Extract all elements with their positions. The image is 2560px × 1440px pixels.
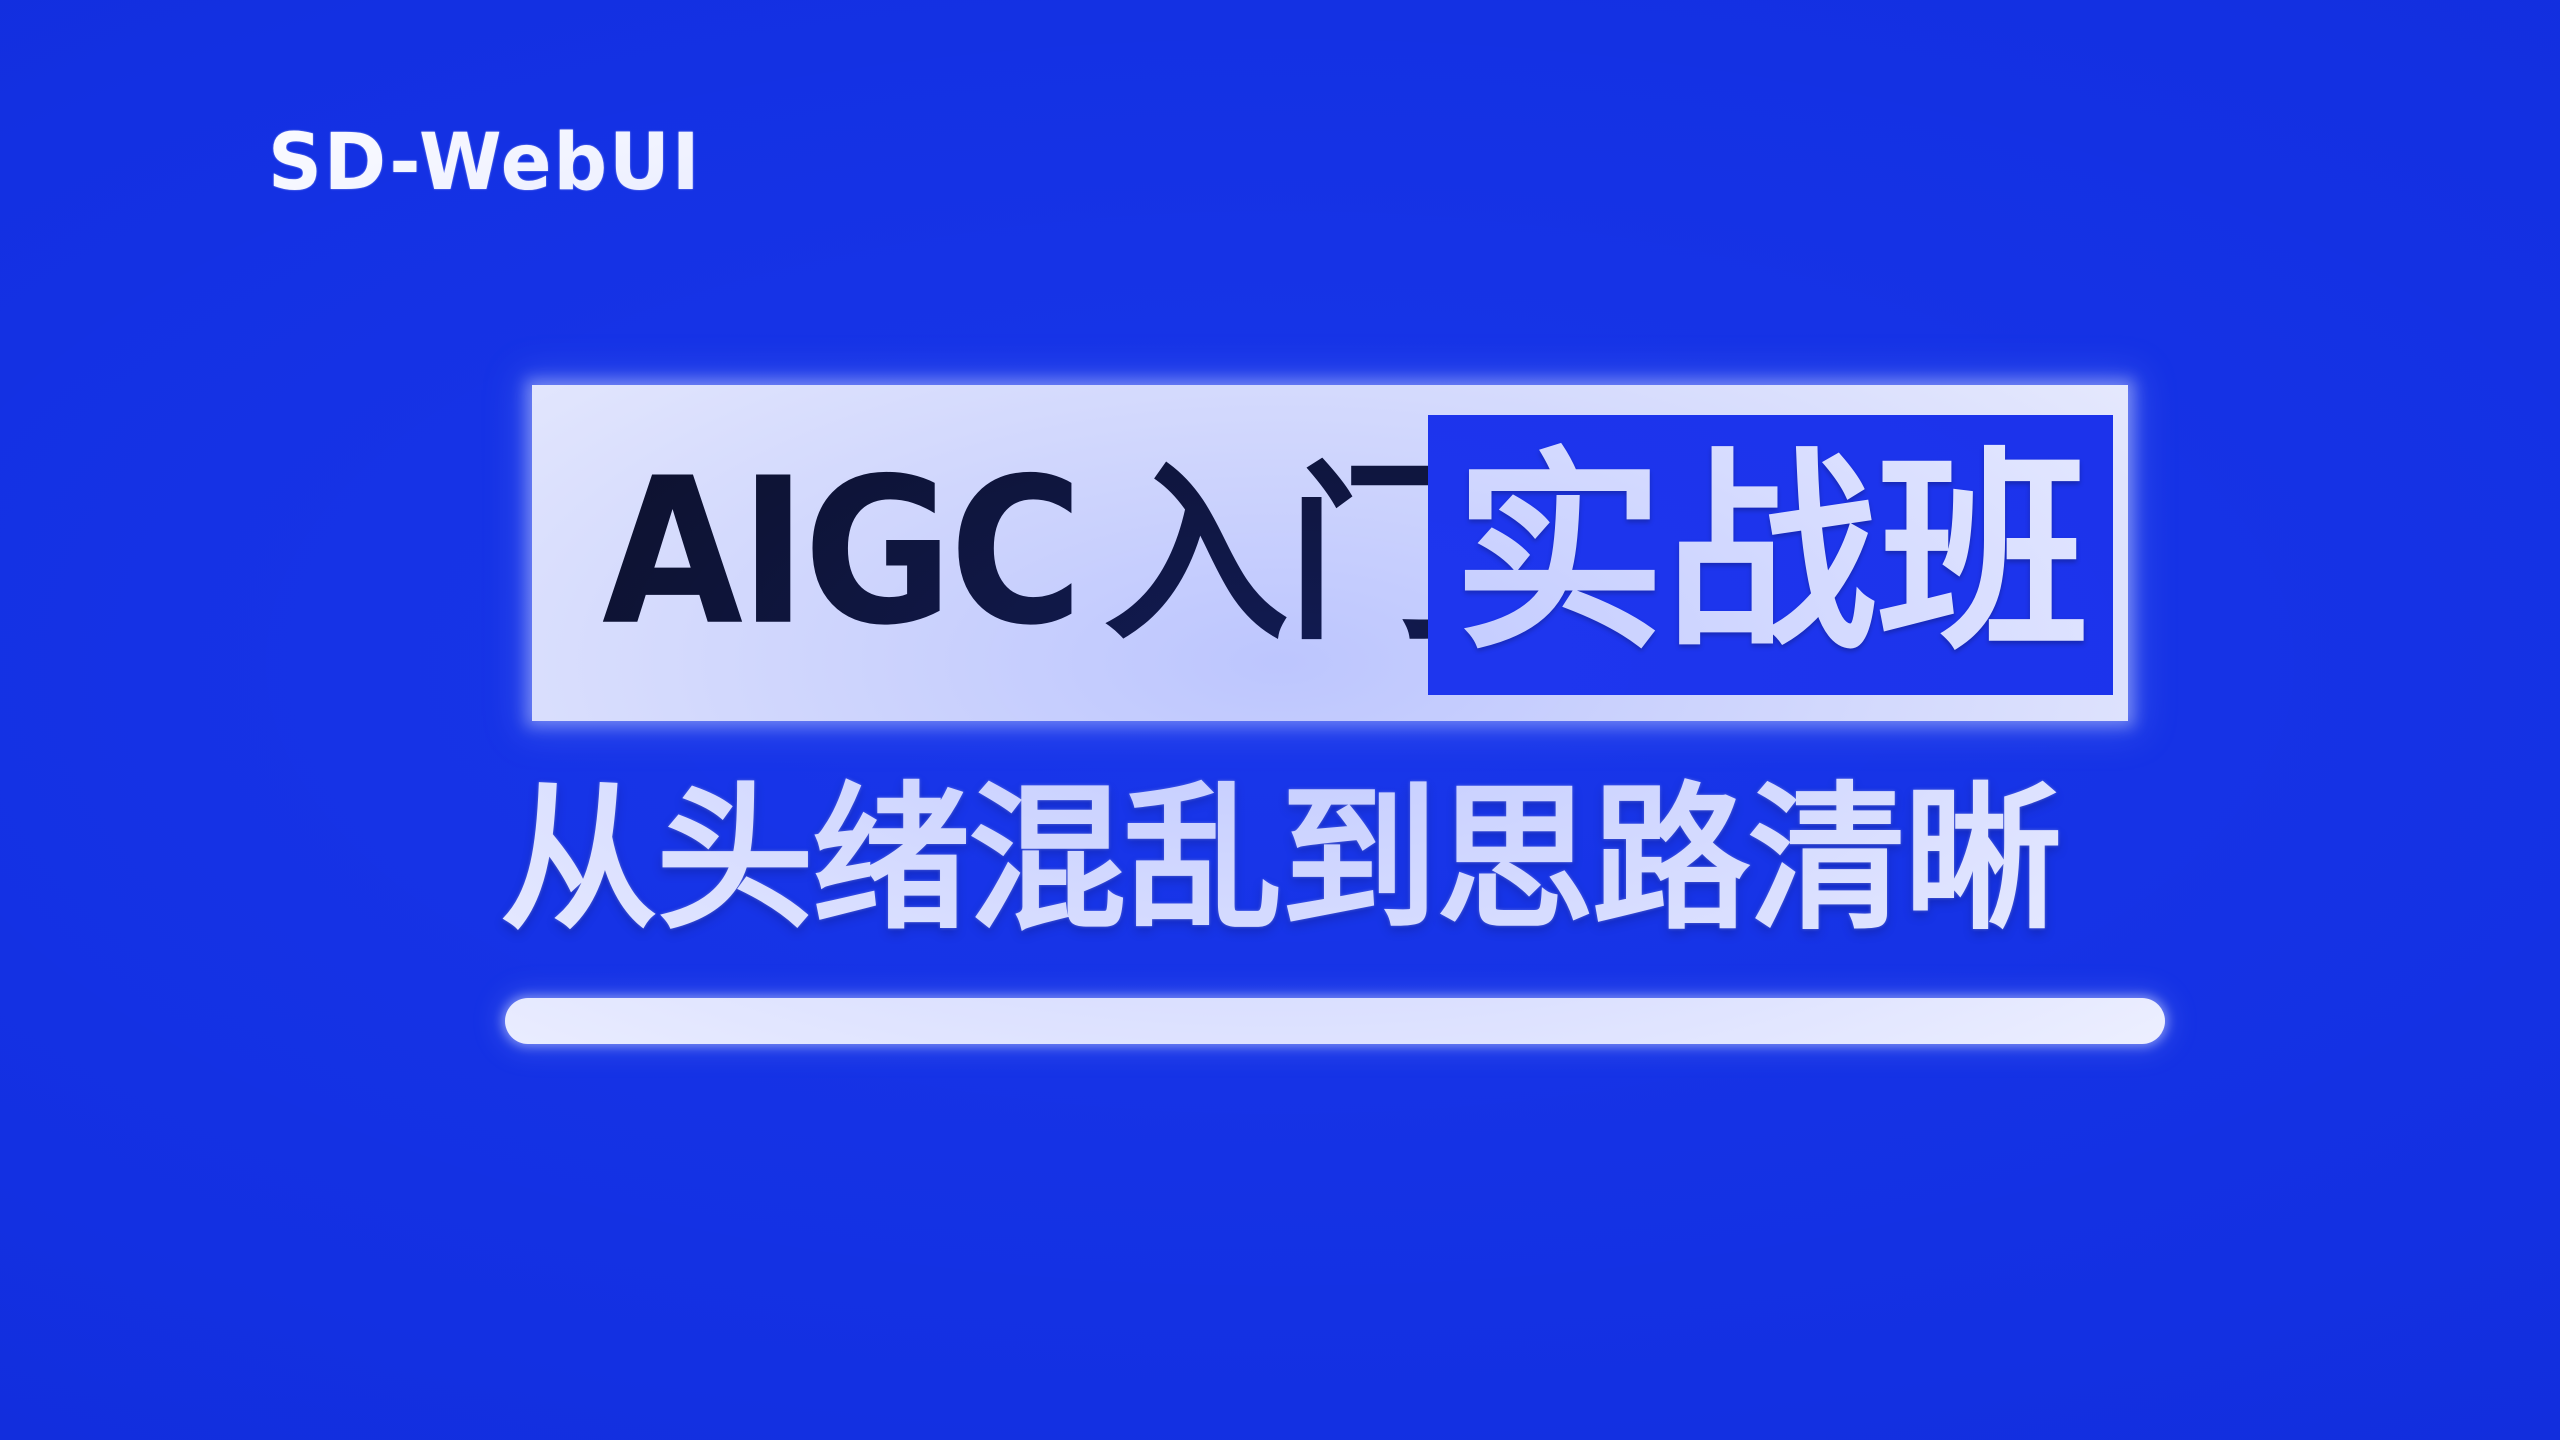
- title-badge: 实战班: [1428, 415, 2113, 695]
- divider-pill: [505, 998, 2165, 1044]
- poster-canvas: SD-WebUI AIGC 入门 实战班 从头绪混乱到思路清晰: [0, 0, 2560, 1440]
- subtitle-text: 从头绪混乱到思路清晰: [0, 778, 2560, 944]
- title-keyword-latin: AIGC: [602, 466, 1079, 640]
- title-card: AIGC 入门 实战班: [532, 385, 2128, 721]
- title-badge-label: 实战班: [1453, 465, 2089, 645]
- title-keyword-group: AIGC 入门: [584, 469, 1471, 638]
- title-keyword-cjk: 入门: [1103, 474, 1471, 637]
- brand-logo: SD-WebUI: [268, 124, 702, 202]
